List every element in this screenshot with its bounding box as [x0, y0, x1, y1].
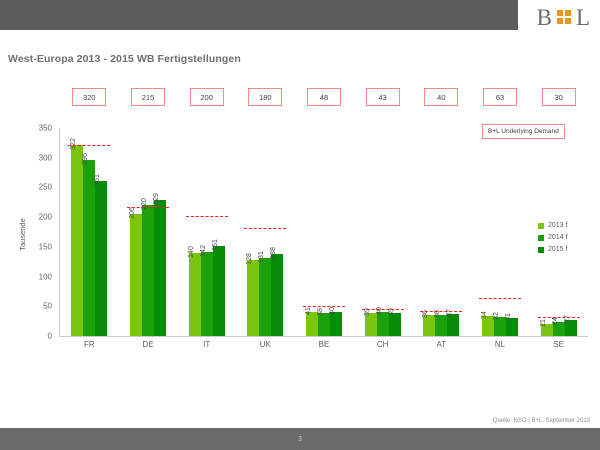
bar[interactable]: 220 — [142, 205, 154, 336]
bar-group: 394039 — [365, 128, 401, 336]
x-tick-label: UK — [236, 340, 295, 349]
bar[interactable]: 296 — [83, 160, 95, 336]
bar[interactable]: 27 — [565, 320, 577, 336]
bar[interactable]: 40 — [377, 312, 389, 336]
page-title: West-Europa 2013 - 2015 WB Fertigstellun… — [8, 53, 241, 65]
x-tick-label: SE — [529, 340, 588, 349]
underlying-demand-line — [68, 145, 110, 146]
bar[interactable]: 38 — [318, 313, 330, 336]
bl-logo: B L — [537, 2, 590, 32]
x-tick-label: BE — [295, 340, 354, 349]
underlying-demand-line — [362, 309, 404, 310]
x-tick-label: CH — [353, 340, 412, 349]
bar[interactable]: 142 — [201, 252, 213, 336]
bar-value-label: 296 — [82, 153, 89, 165]
y-axis-ticks: 050100150200250300350 — [16, 128, 58, 336]
bar[interactable]: 24 — [553, 322, 565, 336]
target-value-boxes: 3202152001804843406330 — [55, 88, 588, 110]
bar-value-label: 229 — [153, 193, 160, 205]
bar-value-label: 322 — [70, 138, 77, 150]
bar-group: 128131138 — [247, 128, 283, 336]
underlying-demand-line — [420, 311, 462, 312]
target-value-box: 48 — [307, 88, 341, 106]
bar[interactable]: 37 — [447, 314, 459, 336]
x-axis-labels: FRDEITUKBECHATNLSE — [60, 340, 588, 354]
logo-squares-icon — [557, 10, 571, 24]
target-value-box: 215 — [131, 88, 165, 106]
bar-value-label: 128 — [246, 253, 253, 265]
x-tick-label: AT — [412, 340, 471, 349]
bar-group: 140142151 — [189, 128, 225, 336]
underlying-demand-line — [244, 228, 286, 229]
bar-value-label: 220 — [141, 198, 148, 210]
logo-letter-b: B — [537, 6, 552, 29]
bar-group: 343231 — [482, 128, 518, 336]
bar-value-label: 34 — [481, 311, 488, 319]
bar[interactable]: 36 — [435, 315, 447, 336]
underlying-demand-line — [538, 317, 580, 318]
bar[interactable]: 128 — [247, 260, 259, 336]
header-bar — [0, 0, 518, 30]
bar[interactable]: 31 — [506, 318, 518, 336]
y-tick-label: 100 — [16, 272, 52, 281]
y-tick-label: 250 — [16, 183, 52, 192]
underlying-demand-line — [303, 306, 345, 307]
bar[interactable]: 229 — [154, 200, 166, 336]
logo-letter-l: L — [576, 6, 590, 29]
target-value-box: 63 — [483, 88, 517, 106]
x-tick-label: FR — [60, 340, 119, 349]
target-value-box: 180 — [248, 88, 282, 106]
bar[interactable]: 39 — [365, 313, 377, 336]
bar-value-label: 41 — [305, 307, 312, 315]
bar-value-label: 38 — [317, 309, 324, 317]
bar-value-label: 131 — [258, 251, 265, 263]
page-number: 3 — [0, 428, 600, 450]
y-tick-label: 150 — [16, 242, 52, 251]
x-tick-label: NL — [471, 340, 530, 349]
bar-group: 322296261 — [71, 128, 107, 336]
y-tick-label: 300 — [16, 153, 52, 162]
bar-value-label: 140 — [188, 246, 195, 258]
bar[interactable]: 138 — [271, 254, 283, 336]
bar-value-label: 138 — [270, 247, 277, 259]
target-value-box: 40 — [424, 88, 458, 106]
bar-group: 206220229 — [130, 128, 166, 336]
underlying-demand-line — [186, 216, 228, 217]
bar-group: 363637 — [423, 128, 459, 336]
bar-value-label: 261 — [94, 174, 101, 186]
bar-value-label: 21 — [540, 319, 547, 327]
y-tick-label: 50 — [16, 302, 52, 311]
bar[interactable]: 151 — [213, 246, 225, 336]
bar[interactable]: 21 — [541, 324, 553, 336]
bar[interactable]: 206 — [130, 214, 142, 336]
target-value-box: 43 — [366, 88, 400, 106]
underlying-demand-line — [479, 298, 521, 299]
bar-value-label: 151 — [212, 239, 219, 251]
x-axis-line — [59, 336, 588, 337]
y-tick-label: 200 — [16, 213, 52, 222]
plot-area: 3222962612062202291401421511281311384138… — [60, 128, 588, 336]
bar-group: 413840 — [306, 128, 342, 336]
bar[interactable]: 40 — [330, 312, 342, 336]
bar-value-label: 32 — [493, 312, 500, 320]
target-value-box: 320 — [72, 88, 106, 106]
y-tick-label: 0 — [16, 332, 52, 341]
bar-value-label: 142 — [200, 245, 207, 257]
bar[interactable]: 140 — [189, 253, 201, 336]
target-value-box: 200 — [190, 88, 224, 106]
target-value-box: 30 — [542, 88, 576, 106]
bar-value-label: 40 — [329, 307, 336, 315]
bar[interactable]: 261 — [95, 181, 107, 336]
source-note: Quelle: NSO | B+L, September 2013 — [493, 418, 590, 424]
bar-value-label: 206 — [129, 207, 136, 219]
x-tick-label: IT — [177, 340, 236, 349]
bar[interactable]: 322 — [71, 145, 83, 336]
underlying-demand-line — [127, 207, 169, 208]
x-tick-label: DE — [119, 340, 178, 349]
bar[interactable]: 39 — [389, 313, 401, 336]
bar-value-label: 31 — [505, 313, 512, 321]
bar[interactable]: 131 — [259, 258, 271, 336]
bar-group: 212427 — [541, 128, 577, 336]
slide: B L West-Europa 2013 - 2015 WB Fertigste… — [0, 0, 600, 450]
y-tick-label: 350 — [16, 124, 52, 133]
